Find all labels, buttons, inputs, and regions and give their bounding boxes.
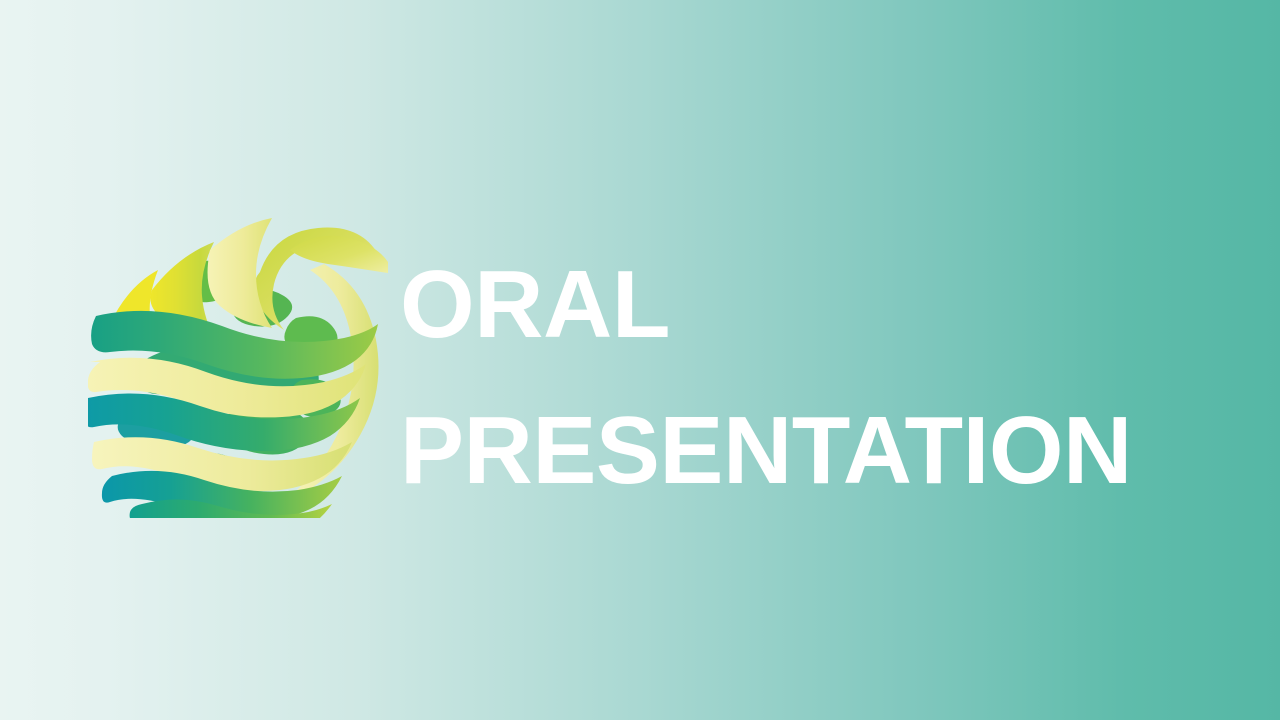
presentation-slide: ORAL PRESENTATION [0,0,1280,720]
title-line-oral: ORAL [400,232,1240,378]
slide-title: ORAL PRESENTATION [400,232,1240,524]
globe-spiral-leaf-logo [88,198,388,518]
leaf-icon [290,236,388,274]
title-line-presentation: PRESENTATION [400,378,1240,524]
